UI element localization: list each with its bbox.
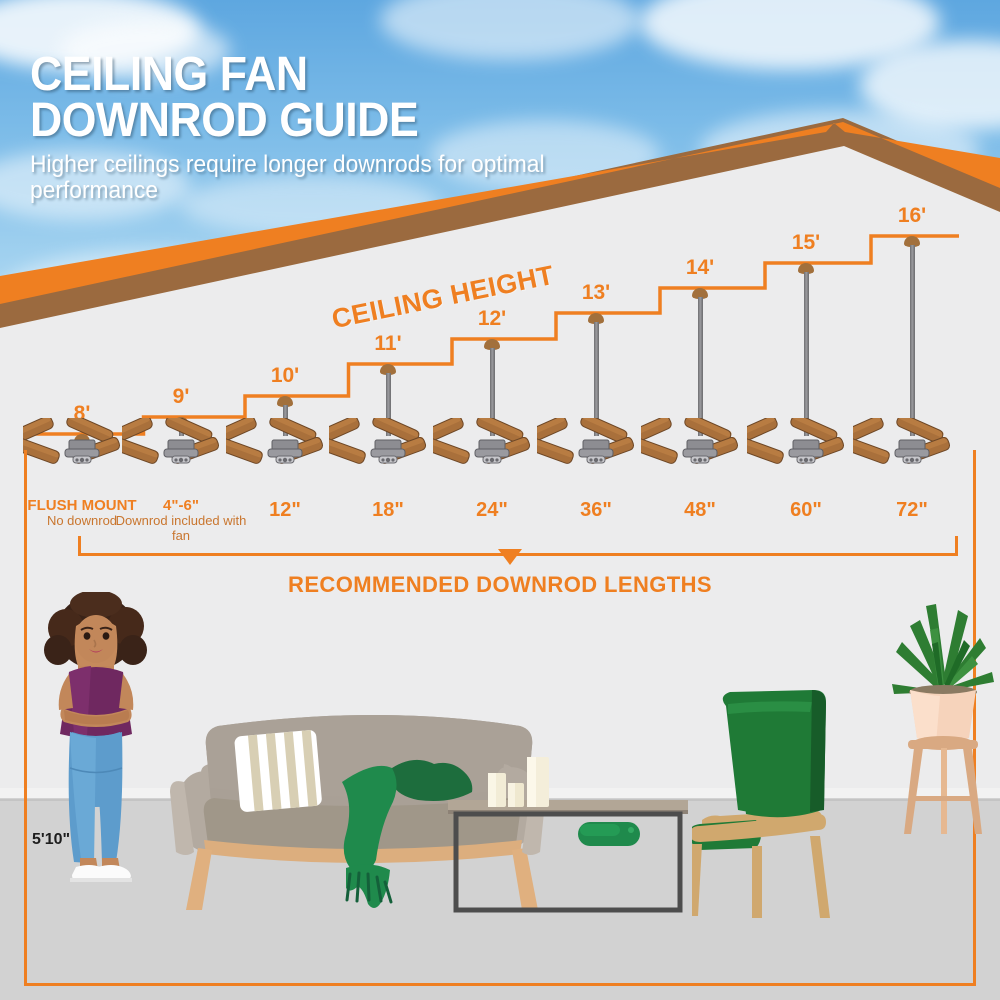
candles	[484, 755, 564, 807]
coffee-table	[448, 800, 688, 930]
potted-plant	[888, 600, 998, 840]
title-block: CEILING FAN DOWNROD GUIDE Higher ceiling…	[30, 52, 650, 204]
person-height-label: 5'10"	[32, 831, 70, 849]
title-line-1: CEILING FAN	[30, 52, 607, 98]
title-line-2: DOWNROD GUIDE	[30, 98, 607, 144]
green-dish	[578, 820, 640, 848]
armchair-back	[692, 690, 882, 820]
title-subtitle: Higher ceilings require longer downrods …	[30, 152, 619, 204]
bracket-arrow-icon	[498, 549, 522, 565]
infographic-canvas: CEILING FAN DOWNROD GUIDE Higher ceiling…	[0, 0, 1000, 1000]
